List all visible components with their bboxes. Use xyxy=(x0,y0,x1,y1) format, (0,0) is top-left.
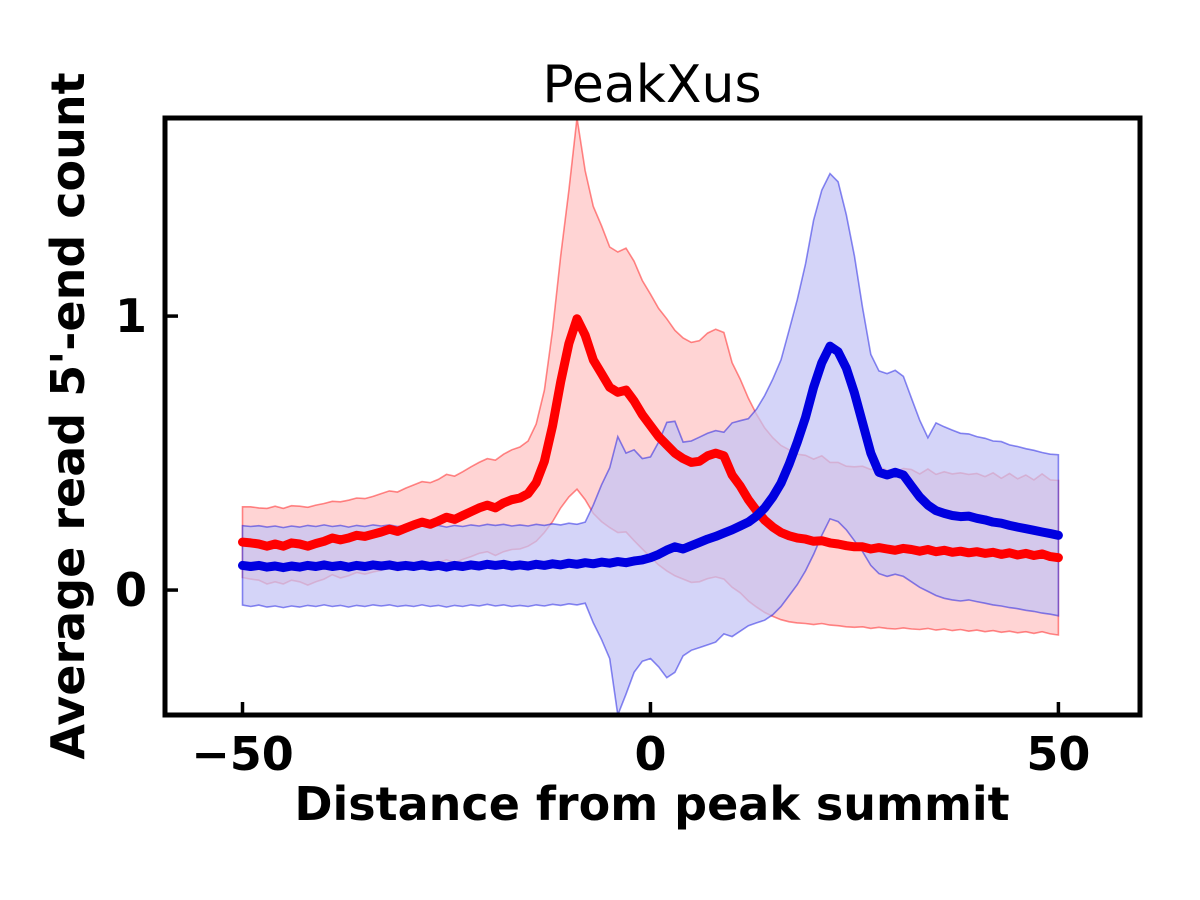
x-tick-label: 0 xyxy=(634,727,666,781)
x-axis-label: Distance from peak summit xyxy=(294,777,1009,831)
line-chart: PeakXus −5005001 Distance from peak summ… xyxy=(0,0,1200,900)
chart-title: PeakXus xyxy=(542,55,761,115)
y-tick-label: 0 xyxy=(115,563,147,617)
y-axis-label: Average read 5'-end count xyxy=(41,72,95,759)
x-tick-label: −50 xyxy=(191,727,294,781)
y-tick-label: 1 xyxy=(115,289,147,343)
chart-figure: PeakXus −5005001 Distance from peak summ… xyxy=(0,0,1200,900)
x-tick-label: 50 xyxy=(1026,727,1090,781)
